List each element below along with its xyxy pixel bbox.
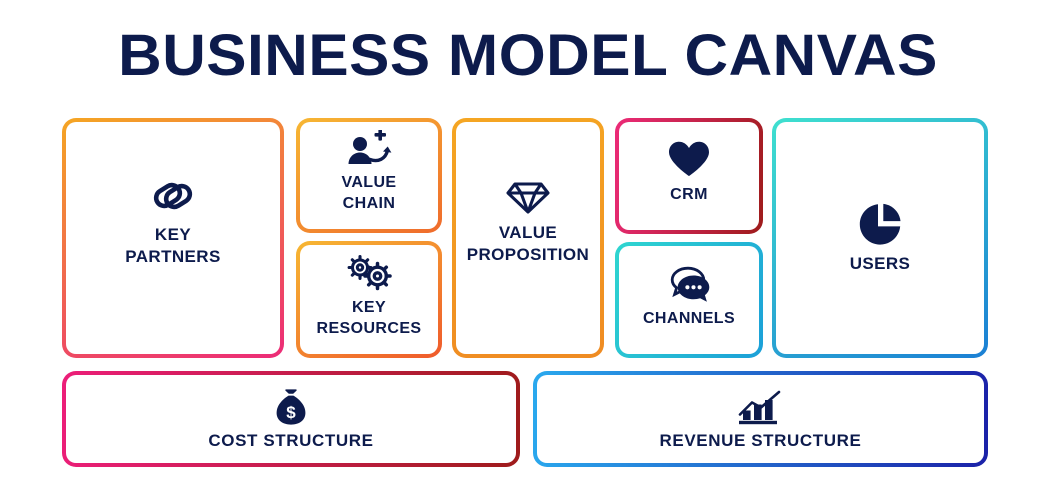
card-value-chain[interactable]: VALUE CHAIN <box>296 118 442 233</box>
card-label: USERS <box>850 253 911 275</box>
heart-icon <box>667 140 711 178</box>
card-label: KEY RESOURCES <box>317 297 422 339</box>
bar-label: COST STRUCTURE <box>208 430 373 451</box>
card-label: CRM <box>670 184 708 205</box>
svg-text:$: $ <box>286 402 296 421</box>
card-key-resources[interactable]: KEY RESOURCES <box>296 241 442 358</box>
bar-cost-structure[interactable]: $ COST STRUCTURE <box>62 371 520 467</box>
money-bag-icon: $ <box>274 388 308 426</box>
card-crm[interactable]: CRM <box>615 118 763 234</box>
diamond-gem-icon <box>505 176 551 216</box>
bar-chart-growth-icon <box>734 388 788 426</box>
card-label: KEY PARTNERS <box>125 224 220 268</box>
card-users[interactable]: USERS <box>772 118 988 358</box>
gears-icon <box>343 253 395 291</box>
card-value-proposition[interactable]: VALUE PROPOSITION <box>452 118 604 358</box>
card-key-partners[interactable]: KEY PARTNERS <box>62 118 284 358</box>
bar-label: REVENUE STRUCTURE <box>660 430 862 451</box>
card-label: VALUE PROPOSITION <box>467 222 589 266</box>
user-plus-arrow-icon <box>343 130 395 166</box>
page-title: BUSINESS MODEL CANVAS <box>0 24 1056 88</box>
card-channels[interactable]: CHANNELS <box>615 242 763 358</box>
bar-revenue-structure[interactable]: REVENUE STRUCTURE <box>533 371 988 467</box>
pie-chart-icon <box>857 201 903 247</box>
card-label: VALUE CHAIN <box>341 172 396 214</box>
card-label: CHANNELS <box>643 308 735 329</box>
business-model-canvas-diagram: BUSINESS MODEL CANVAS KEY PARTNERS <box>0 0 1056 500</box>
chat-bubbles-icon <box>666 264 712 302</box>
chain-link-icon <box>150 174 196 218</box>
